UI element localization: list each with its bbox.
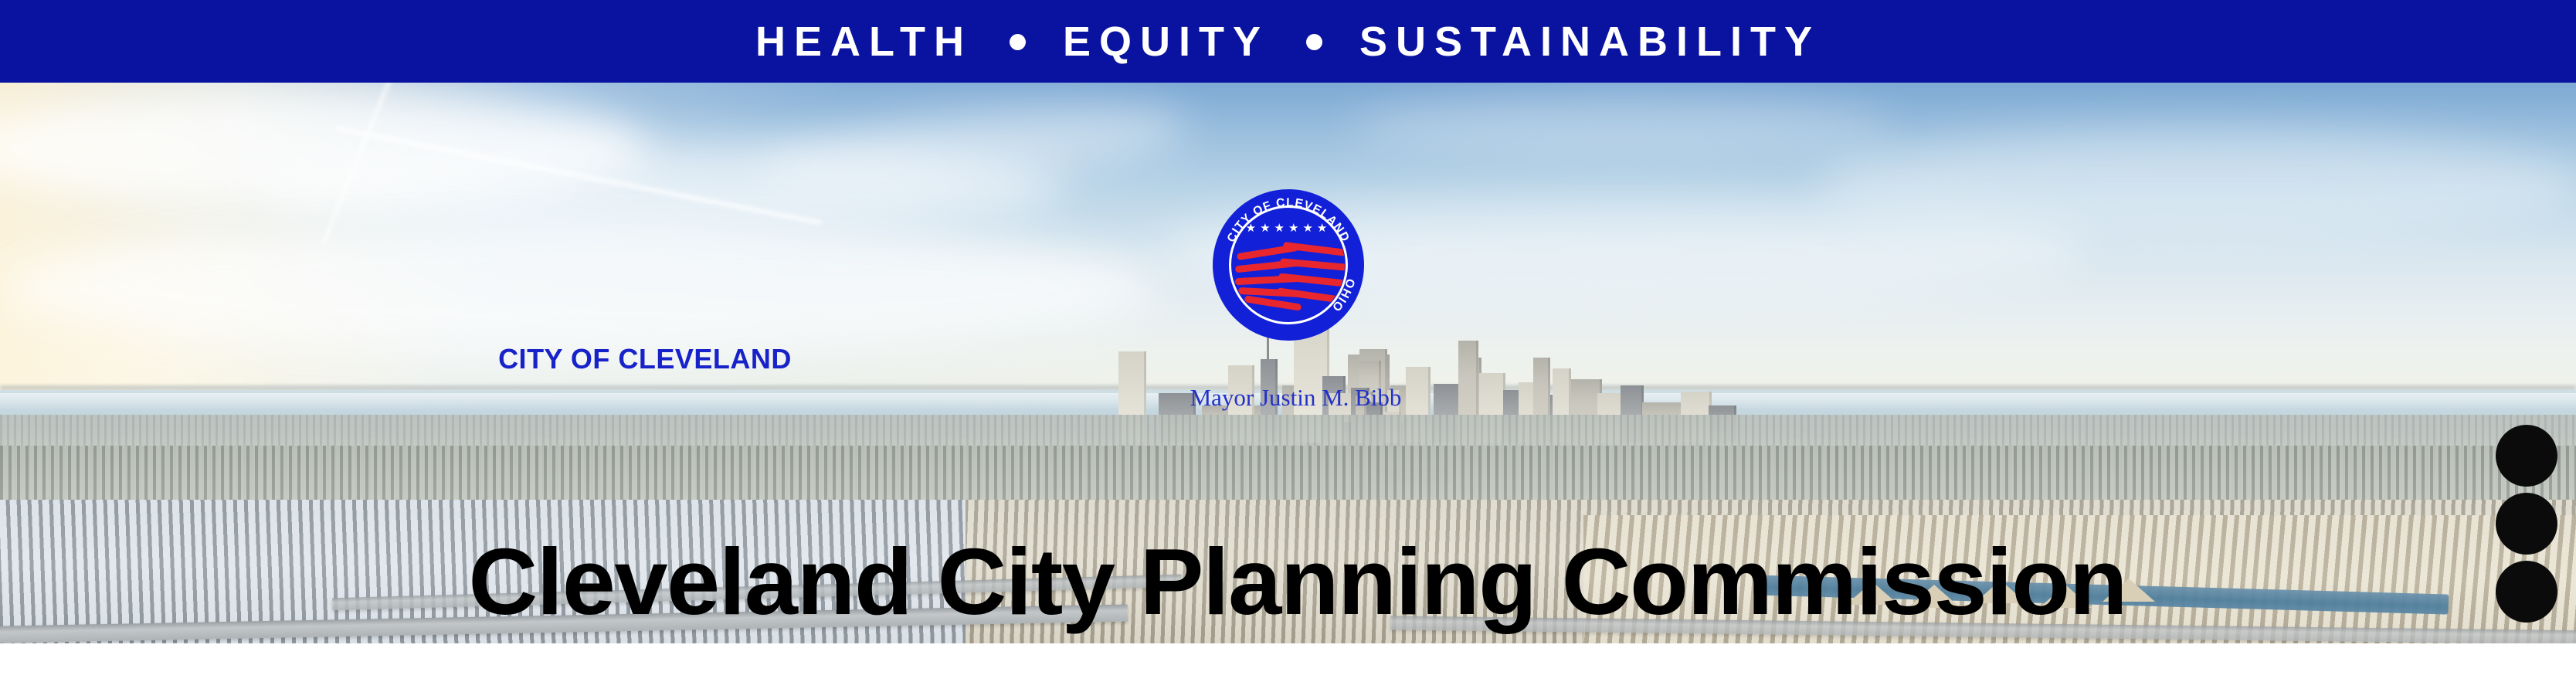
social-links-rail [2496,425,2559,629]
tagline-word-sustainability: SUSTAINABILITY [1359,21,1821,63]
tagline-banner: HEALTH EQUITY SUSTAINABILITY [0,0,2576,83]
social-link-facebook[interactable] [2496,561,2557,623]
page-title: Cleveland City Planning Commission [0,534,2576,629]
social-link-instagram[interactable] [2496,493,2557,555]
seal-arc-text: CITY OF CLEVELAND OHIO [1213,189,1364,341]
svg-text:OHIO: OHIO [1329,277,1357,314]
city-of-cleveland-seal: ★★★★★★ CITY OF CLEVELAND OHIO [1213,189,1364,341]
svg-text:CITY OF CLEVELAND: CITY OF CLEVELAND [1225,196,1352,245]
bullet-dot-icon [1306,34,1322,50]
youtube-icon [2506,436,2547,476]
social-link-youtube[interactable] [2496,425,2557,487]
tagline-word-equity: EQUITY [1063,21,1269,63]
bottom-white-strip [0,643,2576,682]
hero-photo: ★★★★★★ CITY OF CLEVELAND OHIO [0,83,2576,643]
tagline-word-health: HEALTH [755,21,972,63]
mayor-name-label: Mayor Justin M. Bibb [0,384,2576,412]
bullet-dot-icon [1010,34,1026,50]
mayor-name-text: Mayor Justin M. Bibb [1190,384,1402,412]
page-title-text: Cleveland City Planning Commission [468,534,2126,629]
city-name-label: CITY OF CLEVELAND [0,343,2576,375]
tagline-inner: HEALTH EQUITY SUSTAINABILITY [755,21,1821,63]
instagram-icon [2507,504,2546,543]
facebook-icon [2507,572,2546,611]
